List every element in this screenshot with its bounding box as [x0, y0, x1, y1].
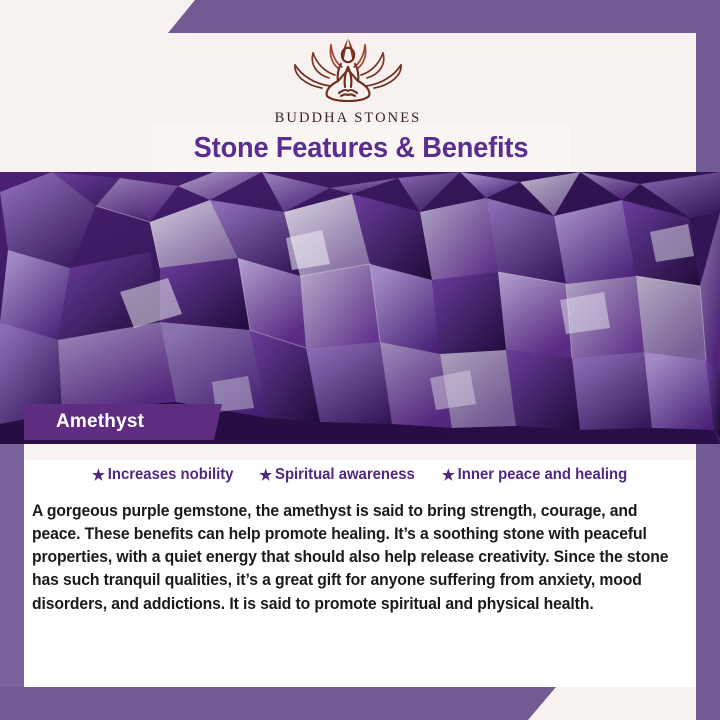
page-title: Stone Features & Benefits — [194, 132, 529, 165]
star-icon: ★ — [259, 468, 272, 483]
benefit-item: ★ Increases nobility — [92, 466, 234, 484]
benefit-label: Spiritual awareness — [275, 466, 415, 484]
infographic-page: BUDDHA STONES Stone Features & Benefits — [0, 0, 720, 720]
stone-name-badge: Amethyst — [24, 404, 222, 440]
header: BUDDHA STONES Stone Features & Benefits — [0, 33, 696, 172]
stone-name-text: Amethyst — [56, 411, 144, 433]
amethyst-photo — [0, 172, 720, 444]
top-purple-band — [0, 0, 720, 33]
benefit-item: ★ Spiritual awareness — [259, 466, 415, 484]
benefits-list: ★ Increases nobility ★ Spiritual awarene… — [24, 466, 696, 484]
benefit-label: Inner peace and healing — [458, 466, 628, 484]
bottom-purple-band — [0, 687, 720, 720]
page-title-band: Stone Features & Benefits — [152, 125, 570, 172]
star-icon: ★ — [92, 468, 105, 483]
panel-top-fade — [24, 444, 696, 460]
lotus-meditation-icon — [275, 31, 421, 107]
description-panel: ★ Increases nobility ★ Spiritual awarene… — [24, 444, 696, 687]
benefit-item: ★ Inner peace and healing — [442, 466, 627, 484]
benefit-label: Increases nobility — [107, 466, 233, 484]
description-text: A gorgeous purple gemstone, the amethyst… — [32, 500, 669, 616]
brand-logo: BUDDHA STONES — [0, 31, 696, 127]
star-icon: ★ — [442, 468, 455, 483]
amethyst-crystal-cluster-illustration — [0, 172, 720, 444]
